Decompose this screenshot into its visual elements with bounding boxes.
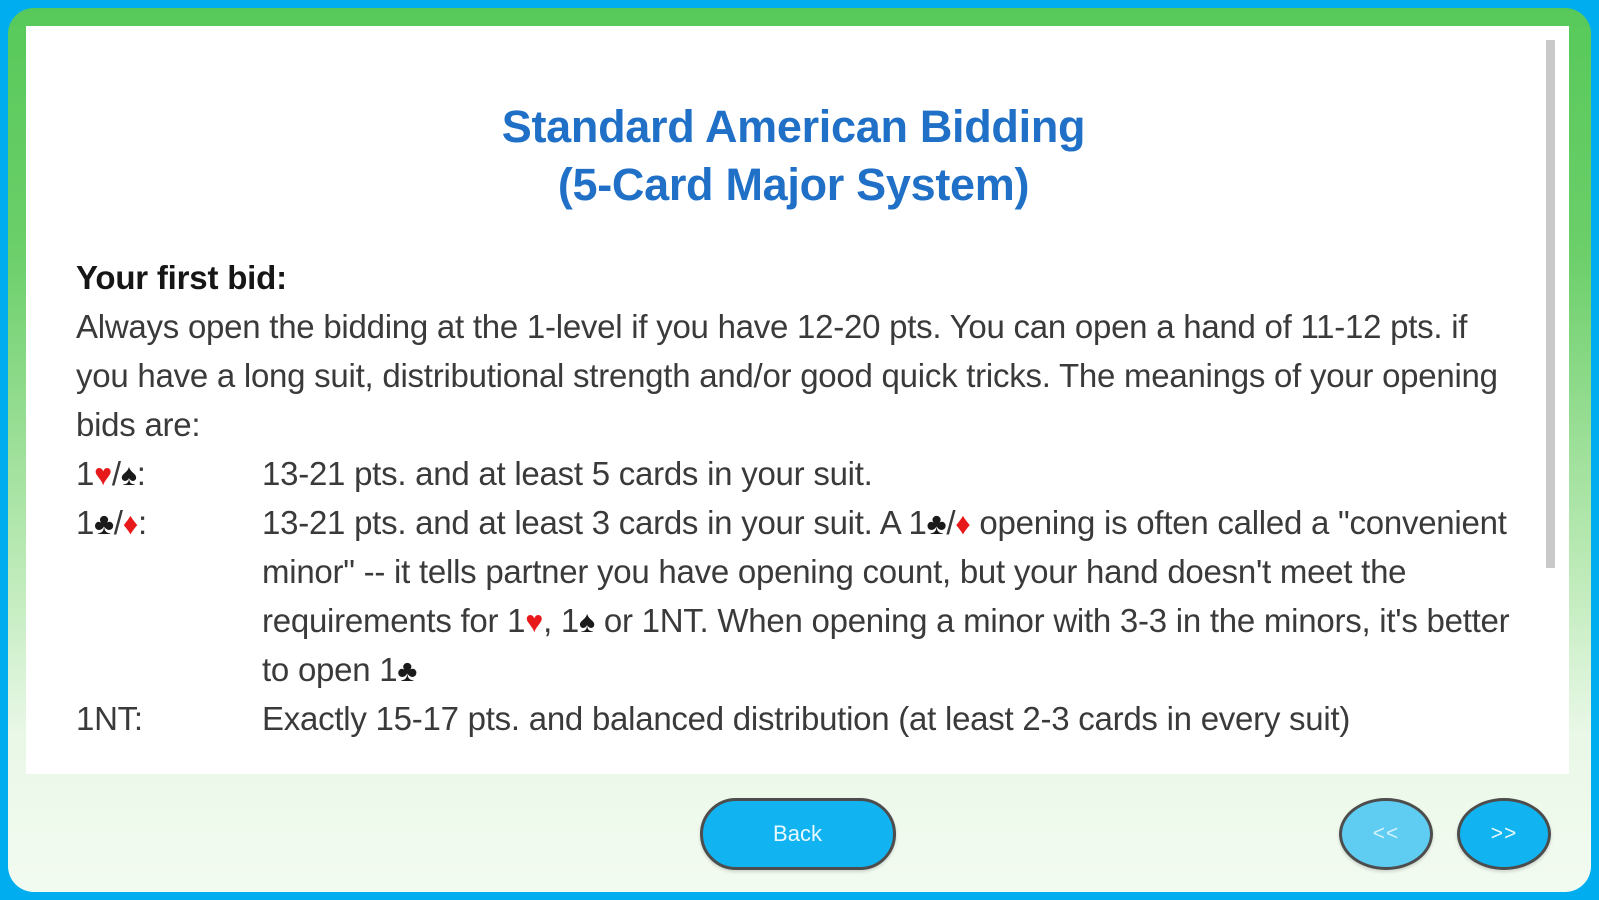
bid-separator: /: [114, 504, 123, 541]
club-icon: ♣: [397, 655, 417, 688]
page-title: Standard American Bidding (5-Card Major …: [76, 26, 1511, 213]
bid-term: 1♥/♠:: [76, 449, 262, 498]
section-heading: Your first bid:: [76, 253, 1511, 302]
previous-page-button[interactable]: <<: [1339, 798, 1433, 870]
bid-definition: 13-21 pts. and at least 3 cards in your …: [262, 498, 1511, 694]
heart-icon: ♥: [525, 606, 543, 639]
bid-colon: :: [137, 455, 146, 492]
diamond-icon: ♦: [955, 508, 970, 541]
bid-row: 1♥/♠: 13-21 pts. and at least 5 cards in…: [76, 449, 1511, 498]
definition-text: /: [946, 504, 955, 541]
bid-definition: 13-21 pts. and at least 5 cards in your …: [262, 449, 1511, 498]
document-body: Your first bid: Always open the bidding …: [76, 253, 1511, 743]
club-icon: ♣: [927, 508, 947, 541]
definition-text: , 1: [543, 602, 579, 639]
bid-level: 1: [76, 455, 94, 492]
vertical-scrollbar[interactable]: [1546, 26, 1555, 774]
bid-row: 1♣/♦: 13-21 pts. and at least 3 cards in…: [76, 498, 1511, 694]
bid-term: 1♣/♦:: [76, 498, 262, 547]
club-icon: ♣: [94, 508, 114, 541]
diamond-icon: ♦: [123, 508, 138, 541]
spade-icon: ♠: [579, 606, 595, 639]
intro-paragraph: Always open the bidding at the 1-level i…: [76, 302, 1511, 449]
document-content-panel[interactable]: Standard American Bidding (5-Card Major …: [26, 26, 1569, 774]
bid-term: 1NT:: [76, 694, 262, 743]
bid-level: 1: [76, 504, 94, 541]
scrollbar-thumb[interactable]: [1546, 40, 1555, 568]
bid-row: 1NT: Exactly 15-17 pts. and balanced dis…: [76, 694, 1511, 743]
application-window: Standard American Bidding (5-Card Major …: [0, 0, 1599, 900]
definition-text: 13-21 pts. and at least 3 cards in your …: [262, 504, 927, 541]
bid-colon: :: [138, 504, 147, 541]
back-button[interactable]: Back: [700, 798, 896, 870]
heart-icon: ♥: [94, 459, 112, 492]
footer-button-bar: Back << >>: [26, 776, 1569, 892]
bid-definition: Exactly 15-17 pts. and balanced distribu…: [262, 694, 1511, 743]
spade-icon: ♠: [121, 459, 137, 492]
card-surface: Standard American Bidding (5-Card Major …: [8, 8, 1591, 892]
next-page-button[interactable]: >>: [1457, 798, 1551, 870]
bid-separator: /: [112, 455, 121, 492]
